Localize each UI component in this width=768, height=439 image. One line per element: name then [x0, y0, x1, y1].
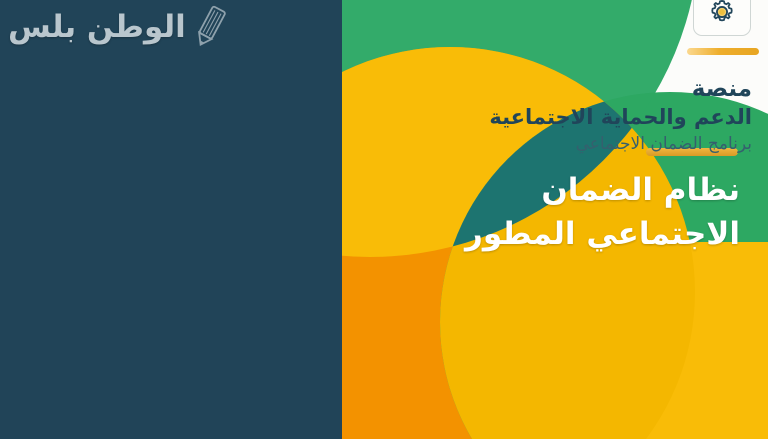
gear-badge[interactable] — [693, 0, 751, 36]
watermark-label: الوطن بلس — [8, 12, 186, 43]
main-title: نظام الضمان الاجتماعي المطور — [450, 168, 740, 256]
main-title-line-2: الاجتماعي المطور — [450, 212, 740, 256]
header-line-3: برنامج الضمان الاجتماعي — [422, 131, 752, 158]
left-navy-panel — [0, 0, 340, 439]
platform-banner: الوطن بلس نظام الضمان الاجتماعي المطور — [0, 0, 768, 439]
pencil-icon — [188, 4, 232, 50]
header-line-1: منصة — [422, 76, 752, 103]
header-accent-bar — [687, 48, 759, 55]
watermark: الوطن بلس — [8, 4, 232, 50]
header-text-block: منصة الدعم والحماية الاجتماعية برنامج ال… — [422, 76, 752, 158]
main-title-line-1: نظام الضمان — [450, 168, 740, 212]
header-line-2: الدعم والحماية الاجتماعية — [422, 103, 752, 131]
gear-icon — [707, 0, 737, 27]
